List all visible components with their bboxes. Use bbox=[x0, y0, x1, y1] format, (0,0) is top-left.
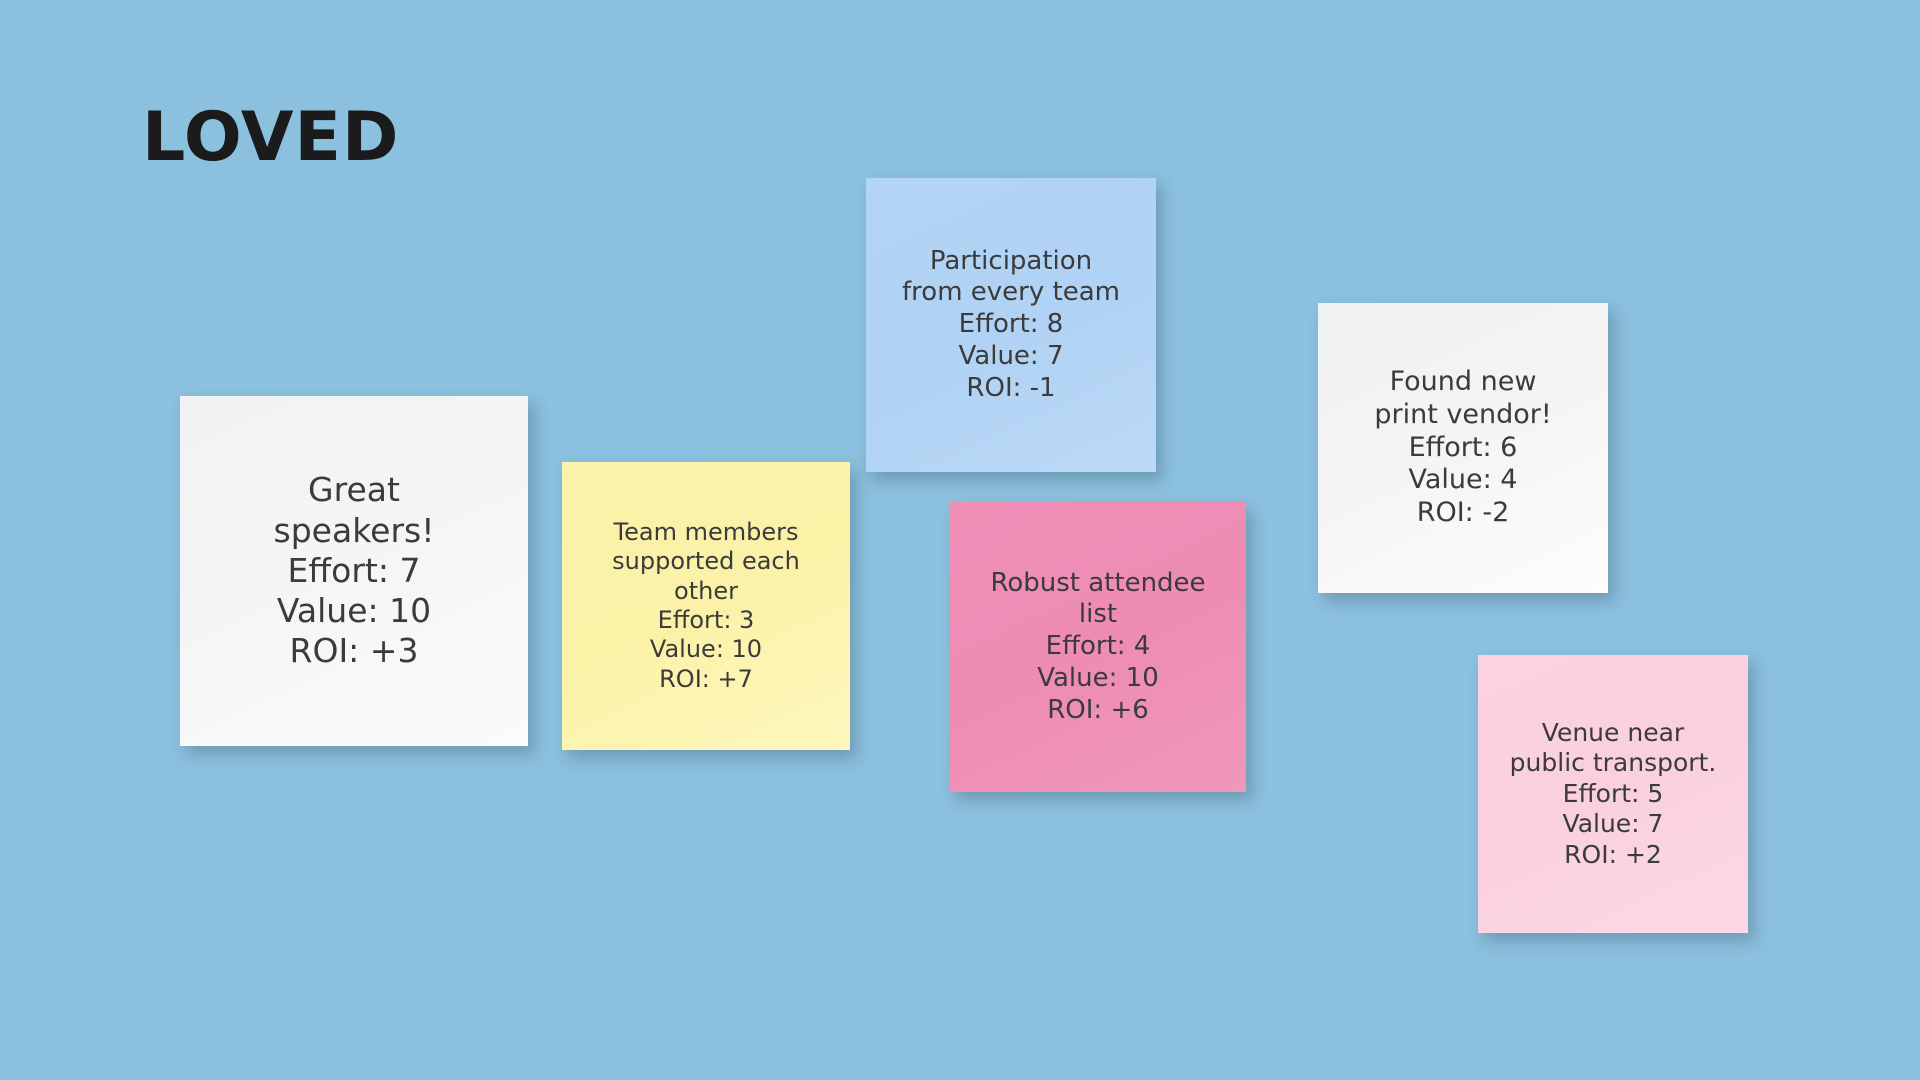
board-title: LOVED bbox=[142, 104, 399, 172]
sticky-note-venue-near-public-transport[interactable]: Venue near public transport. Effort: 5 V… bbox=[1478, 655, 1748, 933]
sticky-note-roi: ROI: +6 bbox=[962, 695, 1234, 727]
sticky-note-line: list bbox=[962, 599, 1234, 631]
sticky-note-line: Participation bbox=[878, 246, 1144, 278]
sticky-note-great-speakers[interactable]: Great speakers! Effort: 7 Value: 10 ROI:… bbox=[180, 396, 528, 746]
sticky-note-line: Great bbox=[192, 470, 516, 510]
sticky-note-line: supported each bbox=[574, 547, 838, 576]
sticky-note-line: print vendor! bbox=[1330, 399, 1596, 432]
sticky-note-value: Value: 7 bbox=[878, 341, 1144, 373]
sticky-note-line: Team members bbox=[574, 518, 838, 547]
sticky-note-roi: ROI: +3 bbox=[192, 631, 516, 671]
sticky-note-line: other bbox=[574, 577, 838, 606]
sticky-note-effort: Effort: 5 bbox=[1490, 779, 1736, 810]
sticky-note-line: from every team bbox=[878, 277, 1144, 309]
sticky-note-line: Robust attendee bbox=[962, 568, 1234, 600]
sticky-note-value: Value: 4 bbox=[1330, 464, 1596, 497]
sticky-note-value: Value: 10 bbox=[574, 635, 838, 664]
sticky-note-line: Venue near bbox=[1490, 718, 1736, 749]
sticky-note-effort: Effort: 7 bbox=[192, 551, 516, 591]
sticky-note-effort: Effort: 6 bbox=[1330, 432, 1596, 465]
sticky-note-team-members-supported[interactable]: Team members supported each other Effort… bbox=[562, 462, 850, 750]
sticky-note-line: Found new bbox=[1330, 366, 1596, 399]
sticky-note-roi: ROI: -2 bbox=[1330, 497, 1596, 530]
retro-board-canvas: LOVED Great speakers! Effort: 7 Value: 1… bbox=[0, 0, 1920, 1080]
sticky-note-effort: Effort: 4 bbox=[962, 631, 1234, 663]
sticky-note-found-new-print-vendor[interactable]: Found new print vendor! Effort: 6 Value:… bbox=[1318, 303, 1608, 593]
sticky-note-roi: ROI: -1 bbox=[878, 373, 1144, 405]
sticky-note-value: Value: 7 bbox=[1490, 809, 1736, 840]
sticky-note-roi: ROI: +2 bbox=[1490, 840, 1736, 871]
sticky-note-effort: Effort: 8 bbox=[878, 309, 1144, 341]
sticky-note-effort: Effort: 3 bbox=[574, 606, 838, 635]
sticky-note-line: speakers! bbox=[192, 511, 516, 551]
sticky-note-value: Value: 10 bbox=[192, 591, 516, 631]
sticky-note-value: Value: 10 bbox=[962, 663, 1234, 695]
sticky-note-robust-attendee-list[interactable]: Robust attendee list Effort: 4 Value: 10… bbox=[950, 502, 1246, 792]
sticky-note-line: public transport. bbox=[1490, 748, 1736, 779]
sticky-note-participation-every-team[interactable]: Participation from every team Effort: 8 … bbox=[866, 178, 1156, 472]
sticky-note-roi: ROI: +7 bbox=[574, 665, 838, 694]
